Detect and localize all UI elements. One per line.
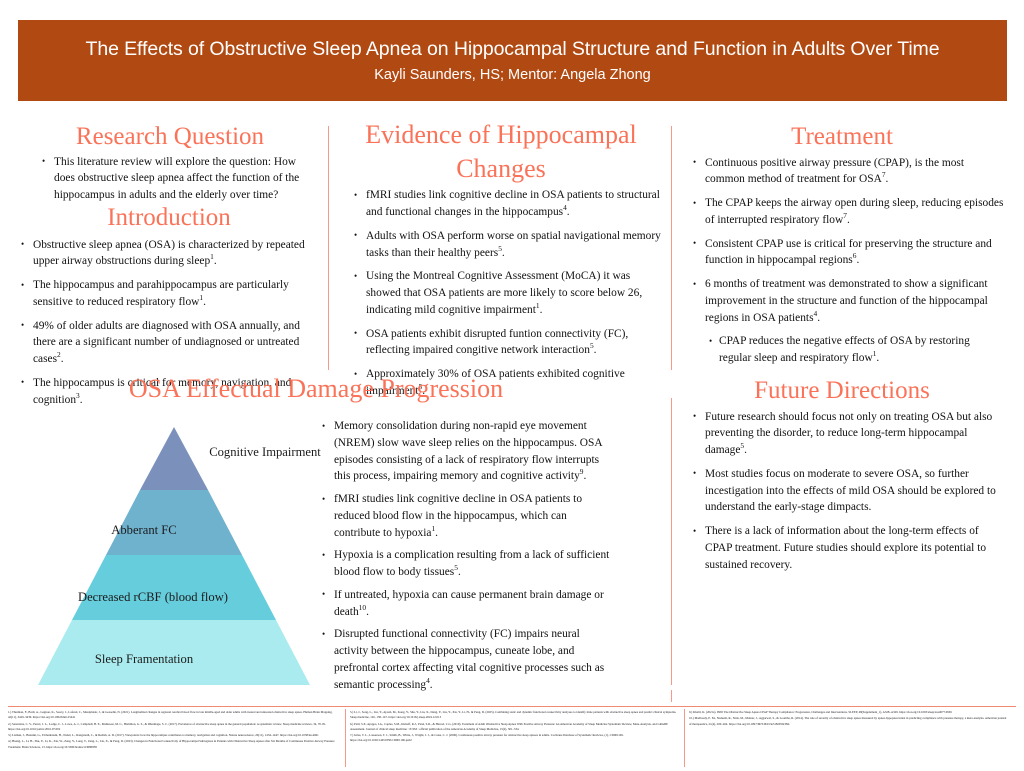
column-divider-left [328, 126, 329, 370]
reference-entry: 7.) Giles, T. L., Lasserson, T. J., Smit… [350, 733, 680, 743]
section-evidence-of-hippocampal-changes: Evidence of Hippocampal Changes fMRI stu… [336, 120, 666, 407]
list-item: fMRI studies link cognitive decline in O… [364, 187, 666, 221]
reference-entry: 6.) Patil, S.P., Ayappa, I.A., Caples, S… [350, 722, 680, 732]
list-item: Obstructive sleep apnea (OSA) is charact… [31, 237, 322, 271]
section-osa-damage-progression: OSA Effectual Damage Progression [16, 374, 616, 408]
list-item: 49% of older adults are diagnosed with O… [31, 318, 322, 368]
poster-authors: Kayli Saunders, HS; Mentor: Angela Zhong [374, 67, 650, 83]
references-column-1: 1.) Thurman, F., Baril, A., Gagnon, K., … [8, 710, 338, 751]
section-research-question: Research Question This literature review… [22, 122, 318, 204]
pyramid-label-decreased-rcbf: Decreased rCBF (blood flow) [28, 590, 278, 606]
pyramid-label-abberant-fc: Abberant FC [64, 523, 224, 539]
research-question-bullet-list: This literature review will explore the … [22, 154, 318, 204]
column-divider-mid-marker [671, 690, 672, 702]
list-item: Hypoxia is a complication resulting from… [332, 547, 610, 581]
list-item: The CPAP keeps the airway open during sl… [703, 195, 1004, 229]
list-item: Continuous positive airway pressure (CPA… [703, 155, 1004, 189]
poster-header-banner: The Effects of Obstructive Sleep Apnea o… [18, 20, 1007, 101]
section-title-treatment: Treatment [680, 122, 1004, 152]
references-divider-2 [684, 709, 685, 767]
progression-bullet-panel: Memory consolidation during non-rapid ey… [320, 418, 610, 699]
list-item: Memory consolidation during non-rapid ey… [332, 418, 610, 485]
pyramid-label-sleep-framentation: Sleep Framentation [44, 652, 244, 668]
column-divider-bottom-right [671, 398, 672, 685]
pyramid-level-3-shape [72, 555, 276, 620]
pyramid-label-cognitive-impairment: Cognitive Impairment [190, 445, 340, 461]
future-directions-bullet-list: Future research should focus not only on… [680, 409, 1004, 574]
list-item: Most studies focus on moderate to severe… [703, 466, 1004, 516]
list-item: This literature review will explore the … [52, 154, 318, 204]
progression-bullet-list: Memory consolidation during non-rapid ey… [320, 418, 610, 693]
references-column-2: 5.) Li, J., Song, L., Liu, Y., Ayoub, M.… [350, 710, 680, 745]
treatment-sub-bullet-list: CPAP reduces the negative effects of OSA… [705, 333, 1004, 367]
list-item: Disrupted functional connectivity (FC) i… [332, 626, 610, 693]
references-column-3: 9.) Khalil, K. (2021a). 0965 The Obstruc… [689, 710, 1009, 728]
list-item: OSA patients exhibit disrupted funtion c… [364, 326, 666, 360]
list-item: Adults with OSA perform worse on spatial… [364, 228, 666, 262]
reference-entry: 9.) Khalil, K. (2021a). 0965 The Obstruc… [689, 710, 1009, 715]
list-item: Future research should focus not only on… [703, 409, 1004, 459]
list-item: 6 months of treatment was demonstrated t… [703, 276, 1004, 367]
section-title-introduction: Introduction [16, 203, 322, 233]
reference-entry: 2.) Senaratna, C. V., Perret, J. L., Lod… [8, 722, 338, 732]
list-item: There is a lack of information about the… [703, 523, 1004, 573]
list-item: If untreated, hypoxia can cause permanen… [332, 587, 610, 621]
reference-entry: 5.) Li, J., Song, L., Liu, Y., Ayoub, M.… [350, 710, 680, 720]
evidence-bullet-list: fMRI studies link cognitive decline in O… [336, 187, 666, 399]
list-item: Consistent CPAP use is critical for pres… [703, 236, 1004, 270]
references-divider-1 [345, 709, 346, 767]
reference-entry: 4.) Huang, L., Li, H., Shu, Y., Li, K., … [8, 739, 338, 749]
section-treatment: Treatment Continuous positive airway pre… [680, 122, 1004, 374]
treatment-bullet-list: Continuous positive airway pressure (CPA… [680, 155, 1004, 367]
reference-entry: 10.) Madbouly, E. M., Nadeem, R., Nida, … [689, 716, 1009, 726]
section-title-evidence-line1: Evidence of Hippocampal [336, 120, 666, 151]
section-title-future-directions: Future Directions [680, 376, 1004, 406]
list-item: Using the Montreal Cognitive Assessment … [364, 268, 666, 318]
section-future-directions: Future Directions Future research should… [680, 376, 1004, 580]
pyramid-svg [38, 427, 310, 685]
reference-entry: 3.) Lisman, J., Buzsáki, G., Eichenbaum,… [8, 733, 338, 738]
section-title-research-question: Research Question [22, 122, 318, 152]
section-title-progression: OSA Effectual Damage Progression [16, 374, 616, 405]
references-divider [8, 706, 1016, 707]
pyramid-chart: Cognitive Impairment Abberant FC Decreas… [38, 427, 310, 685]
list-item: The hippocampus and parahippocampus are … [31, 277, 322, 311]
column-divider-right [671, 126, 672, 370]
section-title-evidence-line2: Changes [336, 154, 666, 185]
list-item: CPAP reduces the negative effects of OSA… [719, 333, 1004, 367]
page-title: The Effects of Obstructive Sleep Apnea o… [86, 38, 940, 61]
reference-entry: 1.) Thurman, F., Baril, A., Gagnon, K., … [8, 710, 338, 720]
list-item: fMRI studies link cognitive decline in O… [332, 491, 610, 541]
